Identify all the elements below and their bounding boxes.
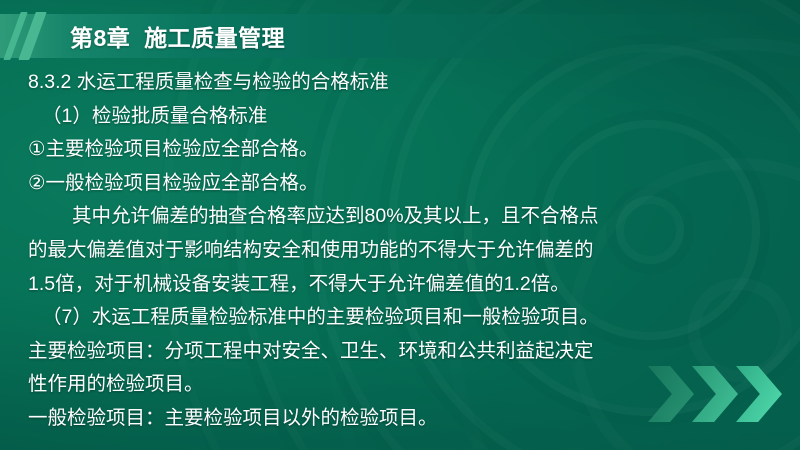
body-line: 8.3.2 水运工程质量检查与检验的合格标准 [0,66,800,100]
body-line: （7）水运工程质量检验标准中的主要检验项目和一般检验项目。 [0,301,800,335]
body-line: 主要检验项目：分项工程中对安全、卫生、环境和公共利益起决定 [0,335,800,369]
body-line: （1）检验批质量合格标准 [0,100,800,134]
body-line: 性作用的检验项目。 [0,368,800,402]
body-line: 的最大偏差值对于影响结构安全和使用功能的不得大于允许偏差的 [0,234,800,268]
body-line: 1.5倍，对于机械设备安装工程，不得大于允许偏差值的1.2倍。 [0,268,800,302]
body-line: ①主要检验项目检验应全部合格。 [0,133,800,167]
slide-body: 8.3.2 水运工程质量检查与检验的合格标准 （1）检验批质量合格标准 ①主要检… [0,66,800,436]
presentation-slide: 第8章 施工质量管理 8.3.2 水运工程质量检查与检验的合格标准 （1）检验批… [0,0,800,450]
body-line: 一般检验项目：主要检验项目以外的检验项目。 [0,402,800,436]
body-line: ②一般检验项目检验应全部合格。 [0,167,800,201]
page-title: 第8章 施工质量管理 [70,14,285,58]
body-line: 其中允许偏差的抽查合格率应达到80%及其以上，且不合格点 [0,200,800,234]
